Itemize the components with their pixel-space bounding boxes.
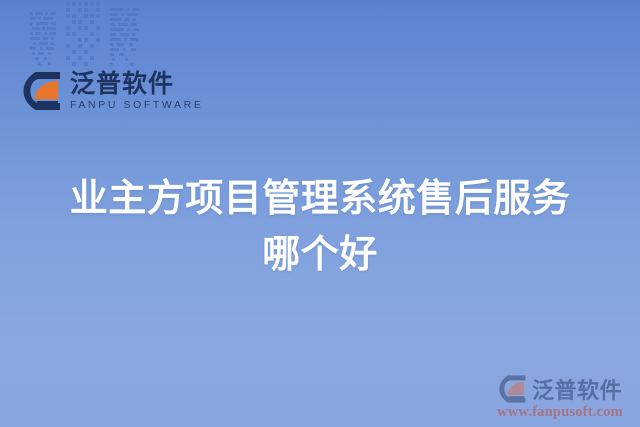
watermark: 泛普软件 www.fanpusoft.com: [488, 373, 632, 421]
fanpu-logo-mark-icon: [22, 70, 66, 112]
headline-line-1: 业主方项目管理系统售后服务: [20, 170, 620, 226]
watermark-logo-row: 泛普软件: [498, 373, 622, 405]
pixel-qr-pattern-decoration: [30, 0, 142, 70]
watermark-brand-name: 泛普软件: [532, 373, 622, 405]
brand-logo: 泛普软件 FANPU SOFTWARE: [22, 68, 203, 114]
headline: 业主方项目管理系统售后服务 哪个好: [0, 170, 640, 282]
watermark-url: www.fanpusoft.com: [497, 404, 623, 421]
promotional-banner: 泛普软件 FANPU SOFTWARE 业主方项目管理系统售后服务 哪个好 泛普…: [0, 0, 640, 427]
fanpu-logo-mark-watermark-icon: [498, 374, 530, 404]
brand-name-en: FANPU SOFTWARE: [70, 99, 203, 112]
brand-name-cn: 泛普软件: [70, 71, 203, 97]
headline-line-2: 哪个好: [20, 226, 620, 282]
